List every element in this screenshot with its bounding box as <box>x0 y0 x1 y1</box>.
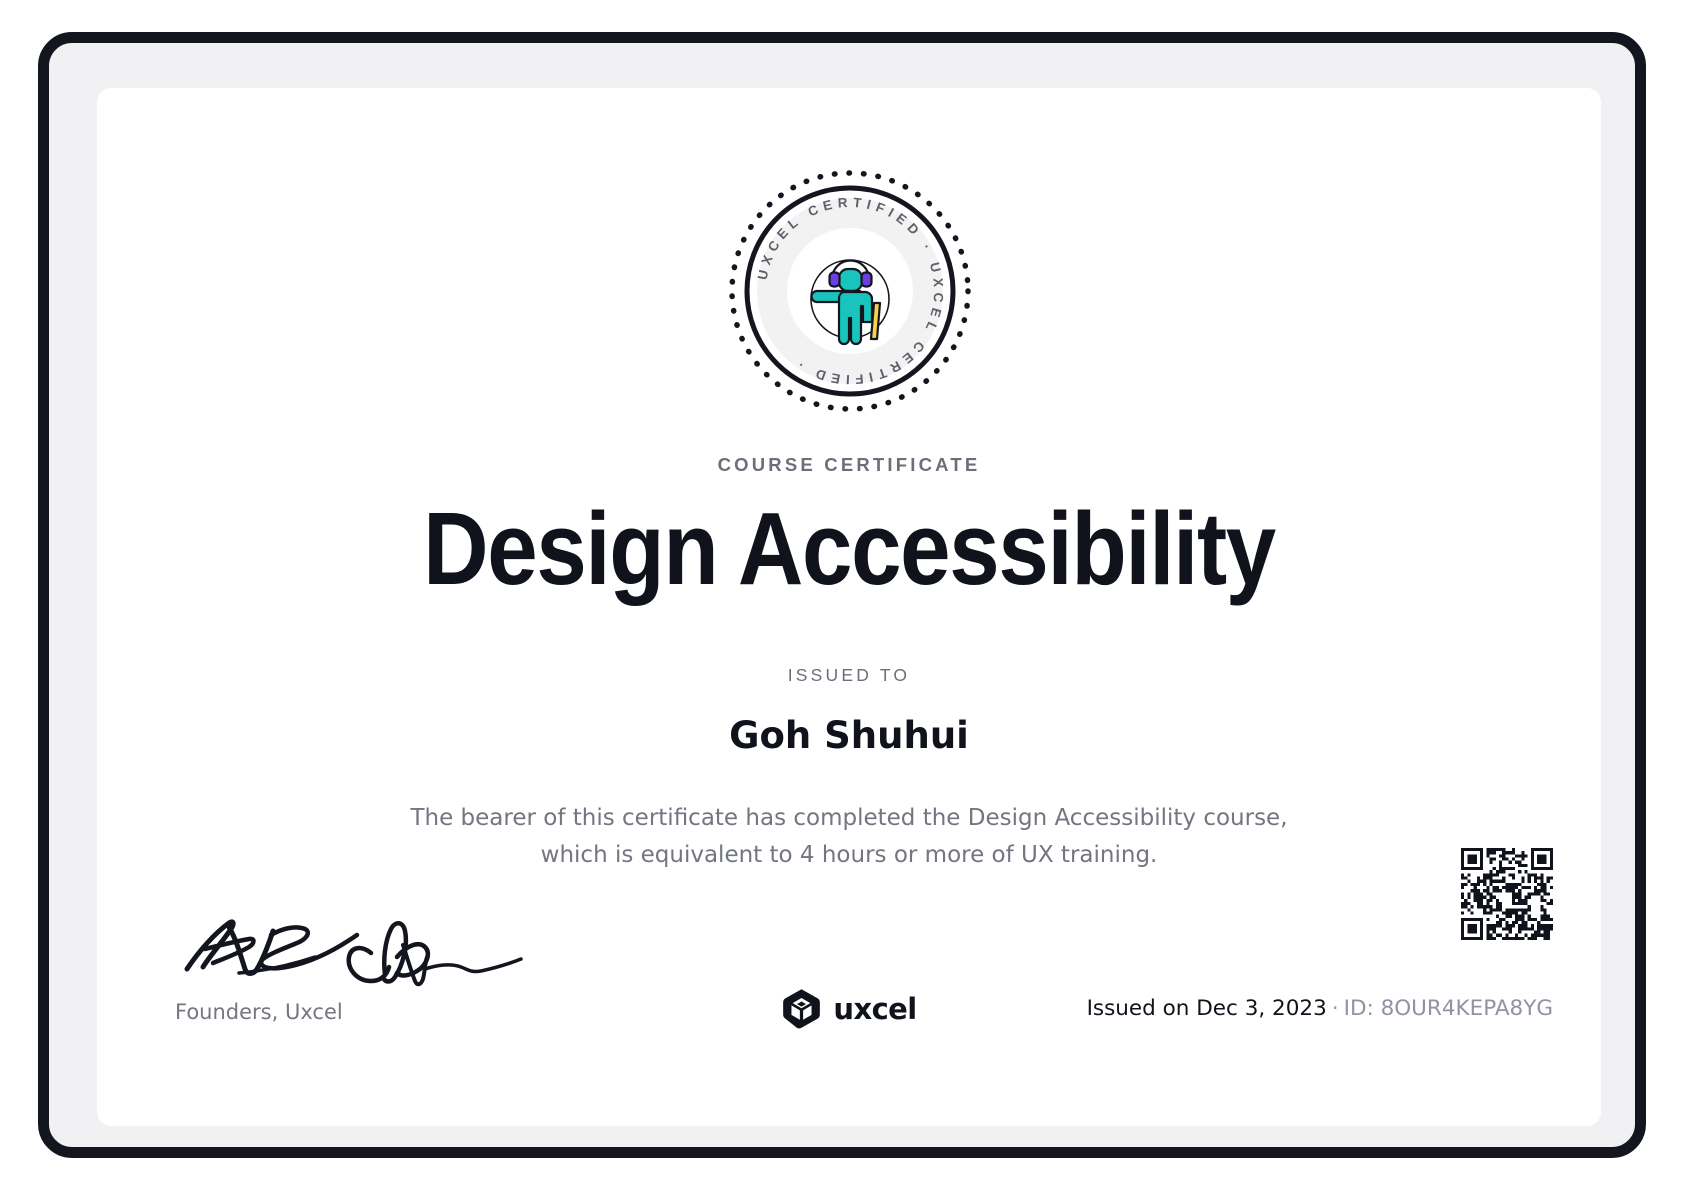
uxcel-hexagon-cube-icon <box>781 988 822 1029</box>
body-line-1: The bearer of this certificate has compl… <box>97 800 1601 837</box>
signature-two <box>349 923 521 984</box>
issued-to-label: ISSUED TO <box>97 665 1601 686</box>
recipient-name: Goh Shuhui <box>97 714 1601 757</box>
certificate-id: ID: 8OUR4KEPA8YG <box>1344 996 1553 1021</box>
issued-on-date: Issued on Dec 3, 2023 <box>1087 996 1327 1021</box>
meta-separator: · <box>1327 996 1344 1021</box>
certificate-title: Design Accessibility <box>187 493 1511 604</box>
certificate-frame: UXCEL CERTIFIED · UXCEL CERTIFIED · <box>38 32 1646 1158</box>
certificate-card: UXCEL CERTIFIED · UXCEL CERTIFIED · <box>97 88 1601 1126</box>
uxcel-certified-badge: UXCEL CERTIFIED · UXCEL CERTIFIED · <box>725 166 975 416</box>
issue-metadata: Issued on Dec 3, 2023·ID: 8OUR4KEPA8YG <box>1087 996 1553 1021</box>
course-certificate-label: COURSE CERTIFICATE <box>97 454 1601 476</box>
certificate-body-text: The bearer of this certificate has compl… <box>97 800 1601 874</box>
uxcel-wordmark: uxcel <box>833 992 916 1026</box>
verification-qr-code[interactable] <box>1461 848 1553 940</box>
signature-one <box>187 922 357 974</box>
founder-signatures <box>175 883 525 988</box>
body-line-2: which is equivalent to 4 hours or more o… <box>97 837 1601 874</box>
